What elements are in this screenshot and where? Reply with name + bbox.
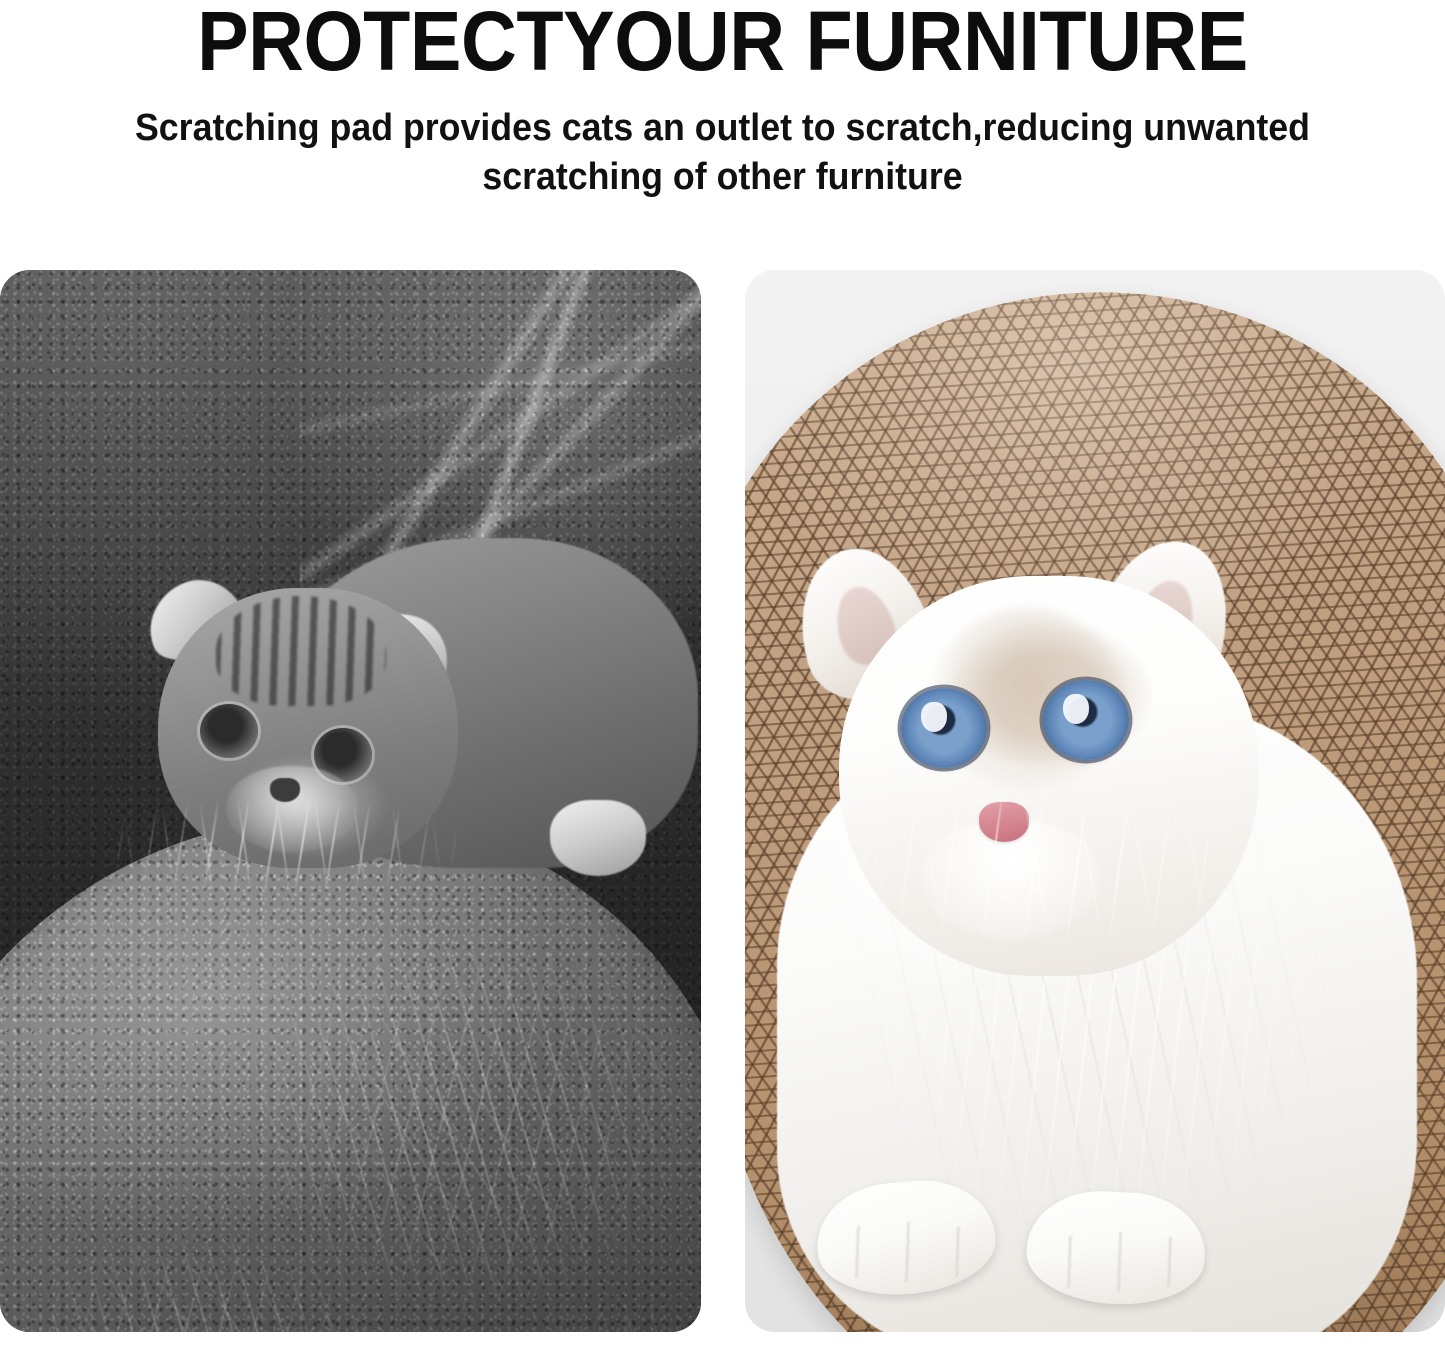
ragdoll-eye-highlight-left: [921, 702, 947, 732]
ragdoll-whiskers: [771, 788, 1331, 1008]
header: PROTECTYOUR FURNITURE Scratching pad pro…: [0, 0, 1445, 250]
ragdoll-eye-right: [1043, 680, 1129, 760]
ragdoll-eye-highlight-right: [1063, 694, 1089, 724]
tabby-paw: [550, 800, 646, 876]
ragdoll-cat: [765, 380, 1425, 1332]
ragdoll-eye-left: [901, 688, 987, 768]
page-title: PROTECTYOUR FURNITURE: [58, 0, 1387, 84]
tabby-forehead-stripes: [216, 596, 386, 706]
page-subtitle: Scratching pad provides cats an outlet t…: [100, 104, 1346, 202]
tabby-cat: [118, 552, 588, 932]
after-panel: -Jo AFTER: [745, 270, 1445, 1332]
ragdoll-toes-right: [1043, 1232, 1193, 1292]
tabby-eye-left: [200, 704, 258, 758]
ragdoll-toes-left: [831, 1222, 981, 1282]
tabby-whiskers: [82, 798, 482, 918]
before-panel: BEFOR: [0, 270, 701, 1332]
product-feature-image: PROTECTYOUR FURNITURE Scratching pad pro…: [0, 0, 1445, 1346]
